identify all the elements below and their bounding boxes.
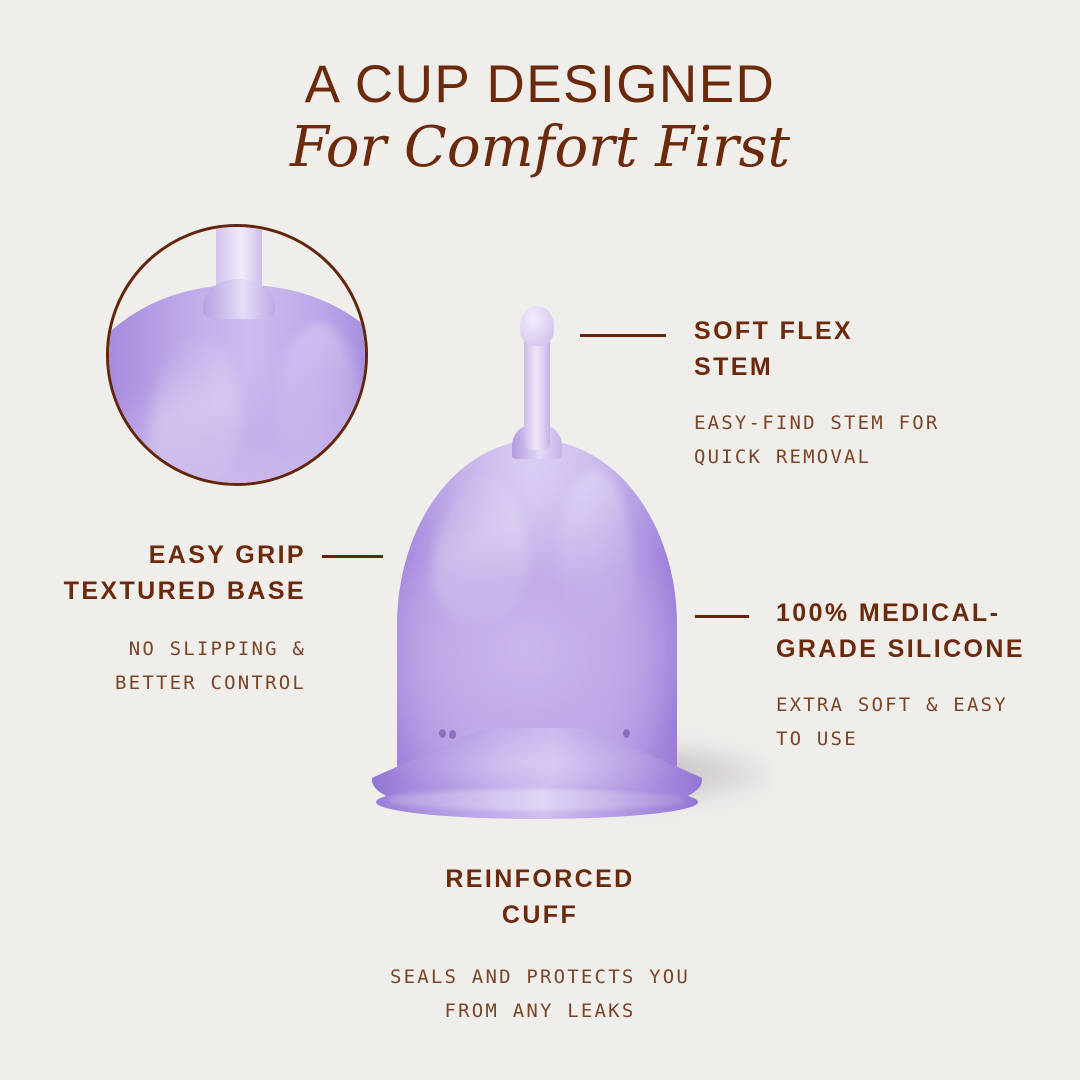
headline-block: A CUP DESIGNED For Comfort First [0, 58, 1080, 182]
callout-easy-grip-textured-base: EASY GRIP TEXTURED BASE NO SLIPPING & BE… [0, 538, 306, 701]
detail-inset-circle [106, 224, 368, 486]
cup-base-rim-highlight [388, 789, 686, 811]
callout-reinforced-cuff: REINFORCED CUFF SEALS AND PROTECTS YOU F… [190, 862, 890, 1029]
callout-soft-flex-stem: SOFT FLEX STEM EASY-FIND STEM FOR QUICK … [694, 314, 1064, 475]
callout-description: NO SLIPPING & BETTER CONTROL [0, 633, 306, 701]
callout-title: SOFT FLEX STEM [694, 314, 1064, 385]
callout-title: 100% MEDICAL- GRADE SILICONE [776, 596, 1076, 667]
leader-line-soft-flex-stem [580, 334, 666, 337]
cup-air-hole [439, 729, 446, 738]
callout-title: EASY GRIP TEXTURED BASE [0, 538, 306, 609]
headline-line-1: A CUP DESIGNED [0, 58, 1080, 112]
cup-stem-tip-shape [520, 306, 554, 346]
headline-line-2: For Comfort First [0, 114, 1080, 182]
cup-air-hole [623, 729, 630, 738]
infographic-page: A CUP DESIGNED For Comfort First SOFT FL… [0, 0, 1080, 1080]
leader-line-medical-grade-silicone [695, 615, 749, 618]
callout-medical-grade-silicone: 100% MEDICAL- GRADE SILICONE EXTRA SOFT … [776, 596, 1076, 757]
callout-description: EXTRA SOFT & EASY TO USE [776, 689, 1076, 757]
callout-description: SEALS AND PROTECTS YOU FROM ANY LEAKS [190, 961, 890, 1029]
leader-line-easy-grip-textured-base [322, 555, 383, 558]
callout-title: REINFORCED CUFF [190, 862, 890, 933]
callout-description: EASY-FIND STEM FOR QUICK REMOVAL [694, 407, 1064, 475]
cup-air-hole [449, 730, 456, 739]
